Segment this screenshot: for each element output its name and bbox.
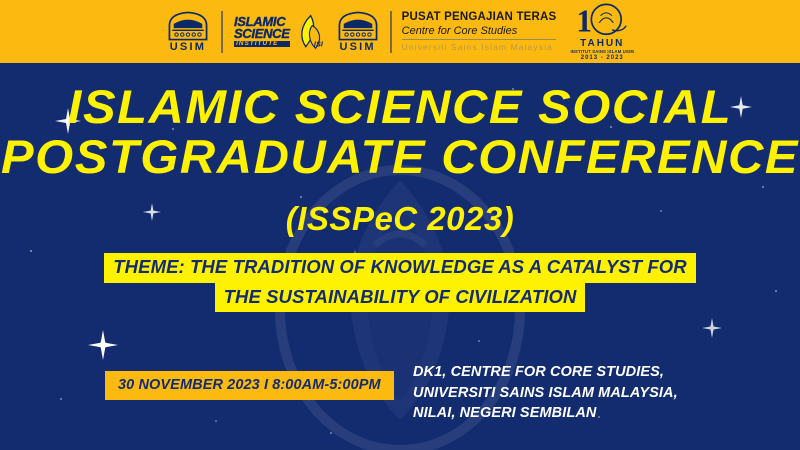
star-dot [215,420,217,422]
conference-acronym: (ISSPeC 2023) [0,200,800,238]
anniversary-years: 2013 - 2023 [581,55,624,62]
venue-line-3: NILAI, NEGERI SEMBILAN [413,403,678,424]
star-dot [30,250,32,252]
usim-wordmark: USIM [170,42,206,53]
conference-poster: USIM ISLAMIC SCIENCE INSTITUTE ISI [0,0,800,450]
isi-line-3: INSTITUTE [234,41,290,47]
star-dot [60,398,62,400]
usim-mosque-dome-icon [336,11,380,41]
theme-line-2: THE SUSTAINABILITY OF CIVILIZATION [215,283,586,313]
logo-divider [390,11,392,53]
logo-divider [221,11,223,53]
conference-title: ISLAMIC SCIENCE SOCIAL POSTGRADUATE CONF… [0,82,800,182]
sparkle-star-icon [702,318,722,338]
theme-line-1: THEME: THE TRADITION OF KNOWLEDGE AS A C… [104,253,695,283]
title-line-2: POSTGRADUATE CONFERENCE [0,132,800,182]
divider-rule [402,39,557,40]
isi-flame-leaf-icon: ISI [292,14,326,50]
core-studies-line-1: PUSAT PENGAJIAN TERAS [402,11,557,25]
star-dot [762,186,764,188]
isi-line-2: SCIENCE [234,28,290,40]
date-time-badge: 30 NOVEMBER 2023 I 8:00AM-5:00PM [105,371,394,400]
centre-for-core-studies-logo: USIM PUSAT PENGAJIAN TERAS Centre for Co… [336,11,557,53]
usim-wordmark-secondary: USIM [339,42,375,53]
anniversary-logo: 1 TAHUN INSTITUT SAINS ISLAM USIM 2013 -… [570,1,634,61]
svg-text:1: 1 [577,4,593,39]
anniversary-label: TAHUN [580,39,624,49]
star-dot [478,340,480,342]
header-logo-band: USIM ISLAMIC SCIENCE INSTITUTE ISI [0,0,800,63]
usim-logo-secondary: USIM [336,11,380,53]
core-studies-line-2: Centre for Core Studies [402,25,557,38]
usim-isi-logo-lockup: USIM ISLAMIC SCIENCE INSTITUTE ISI [166,11,326,53]
star-dot [330,432,332,434]
venue-address: DK1, CENTRE FOR CORE STUDIES, UNIVERSITI… [413,362,678,424]
ten-years-anniversary-icon: 1 [575,1,629,39]
star-dot [300,196,302,198]
core-studies-line-3: Universiti Sains Islam Malaysia [402,42,557,52]
usim-mosque-dome-icon [166,11,210,41]
usim-logo: USIM [166,11,210,53]
title-line-1: ISLAMIC SCIENCE SOCIAL [0,82,800,132]
islamic-science-institute-logo: ISLAMIC SCIENCE INSTITUTE ISI [234,14,326,50]
conference-theme: THEME: THE TRADITION OF KNOWLEDGE AS A C… [0,253,800,312]
svg-text:ISI: ISI [314,39,324,48]
core-studies-wordmark: PUSAT PENGAJIAN TERAS Centre for Core St… [402,11,557,52]
isi-wordmark: ISLAMIC SCIENCE INSTITUTE [234,16,290,47]
sparkle-star-icon [88,330,118,360]
venue-line-2: UNIVERSITI SAINS ISLAM MALAYSIA, [413,383,678,404]
venue-line-1: DK1, CENTRE FOR CORE STUDIES, [413,362,678,383]
